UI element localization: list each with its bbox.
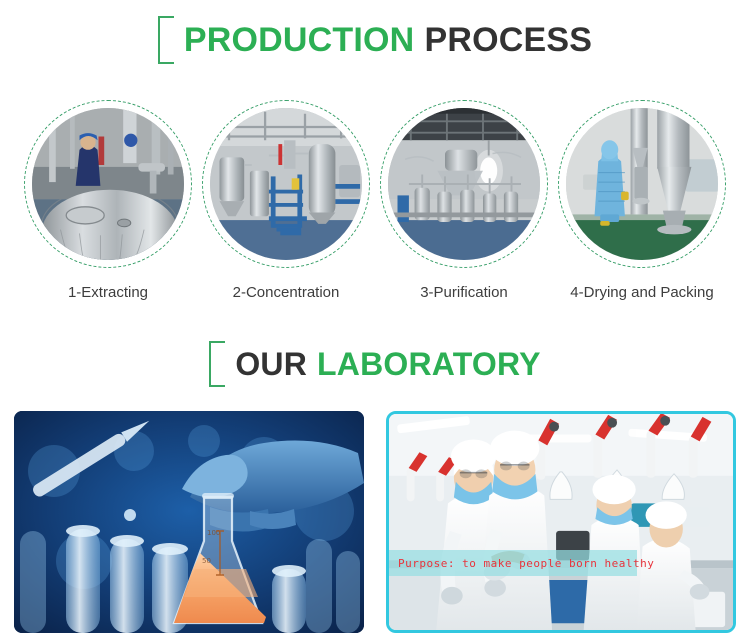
production-title-word-2: PROCESS <box>424 21 592 60</box>
laboratory-title-words: OUR LABORATORY <box>235 346 540 383</box>
production-process-page: PRODUCTION PROCESS <box>0 0 750 642</box>
process-caption-1: 1-Extracting <box>68 284 148 301</box>
laboratory-title-word-2: LABORATORY <box>317 346 541 383</box>
concentration-photo <box>210 108 362 260</box>
process-caption-4: 4-Drying and Packing <box>570 284 713 301</box>
production-title-word-1: PRODUCTION <box>184 21 415 60</box>
production-section-title: PRODUCTION PROCESS <box>0 16 750 64</box>
purpose-overlay-text: Purpose: to make people born healthy <box>389 557 654 570</box>
dashed-ring-3 <box>380 100 548 268</box>
purpose-overlay-band: Purpose: to make people born healthy <box>389 550 637 576</box>
drying-packing-photo <box>566 108 718 260</box>
process-steps-row: 1-Extracting <box>0 100 750 315</box>
process-caption-2: 2-Concentration <box>233 284 340 301</box>
process-step-2[interactable]: 2-Concentration <box>200 100 372 315</box>
lab-team-photo[interactable]: Purpose: to make people born healthy <box>386 411 736 633</box>
laboratory-photo-row: 100 50 <box>14 411 736 633</box>
svg-text:100: 100 <box>207 529 220 537</box>
process-step-4[interactable]: 4-Drying and Packing <box>556 100 728 315</box>
process-step-1[interactable]: 1-Extracting <box>22 100 194 315</box>
svg-text:50: 50 <box>202 557 211 565</box>
laboratory-section-title: OUR LABORATORY <box>0 341 750 387</box>
purification-photo <box>388 108 540 260</box>
production-title-words: PRODUCTION PROCESS <box>184 21 592 60</box>
dashed-ring-2 <box>202 100 370 268</box>
dashed-ring-4 <box>558 100 726 268</box>
process-caption-3: 3-Purification <box>420 284 508 301</box>
process-step-3[interactable]: 3-Purification <box>378 100 550 315</box>
title-bracket-icon <box>158 16 174 64</box>
dashed-ring-1 <box>24 100 192 268</box>
laboratory-title-word-1: OUR <box>235 346 307 383</box>
pipette-flask-photo[interactable]: 100 50 <box>14 411 364 633</box>
title-bracket-icon <box>209 341 225 387</box>
extracting-photo <box>32 108 184 260</box>
